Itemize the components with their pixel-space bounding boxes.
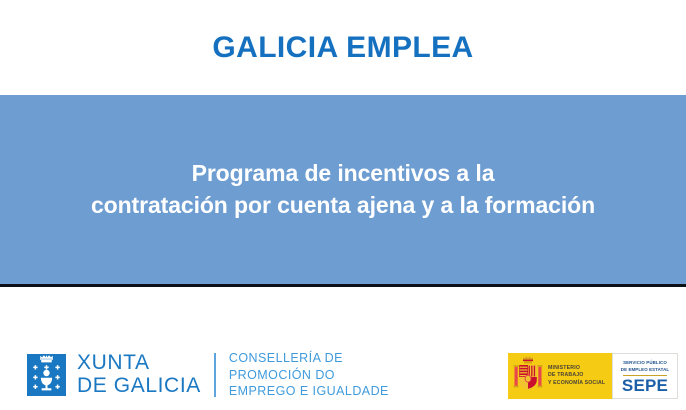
page-title: GALICIA EMPLEA (212, 33, 473, 63)
sepe-logo: SERVICIO PÚBLICO DE EMPLEO ESTATAL SEPE (612, 353, 678, 399)
ministerio-label: MINISTERIO DE TRABAJO Y ECONOMÍA SOCIAL (548, 365, 605, 387)
xunta-de-galicia-logo: XUNTA DE GALICIA CONSELLERÍA DE PROMOCIÓ… (27, 350, 389, 400)
ministerio-de-trabajo-logo: MINISTERIO DE TRABAJO Y ECONOMÍA SOCIAL (508, 353, 612, 399)
spain-coat-of-arms-icon (513, 355, 543, 398)
sepe-wordmark: SEPE (622, 377, 668, 394)
program-banner-text: Programa de incentivos a la contratación… (91, 158, 595, 221)
program-banner: Programa de incentivos a la contratación… (0, 95, 686, 284)
state-logos-group: MINISTERIO DE TRABAJO Y ECONOMÍA SOCIAL … (508, 353, 678, 399)
logo-vertical-divider (214, 353, 216, 397)
page-header: GALICIA EMPLEA (0, 0, 686, 95)
sepe-subtitle: SERVICIO PÚBLICO DE EMPLEO ESTATAL (621, 360, 669, 373)
conselleria-label: CONSELLERÍA DE PROMOCIÓN DO EMPREGO E IG… (229, 350, 389, 400)
xunta-coat-of-arms-icon (27, 354, 66, 396)
xunta-wordmark: XUNTA DE GALICIA (77, 352, 201, 397)
footer-logos: XUNTA DE GALICIA CONSELLERÍA DE PROMOCIÓ… (0, 287, 686, 410)
